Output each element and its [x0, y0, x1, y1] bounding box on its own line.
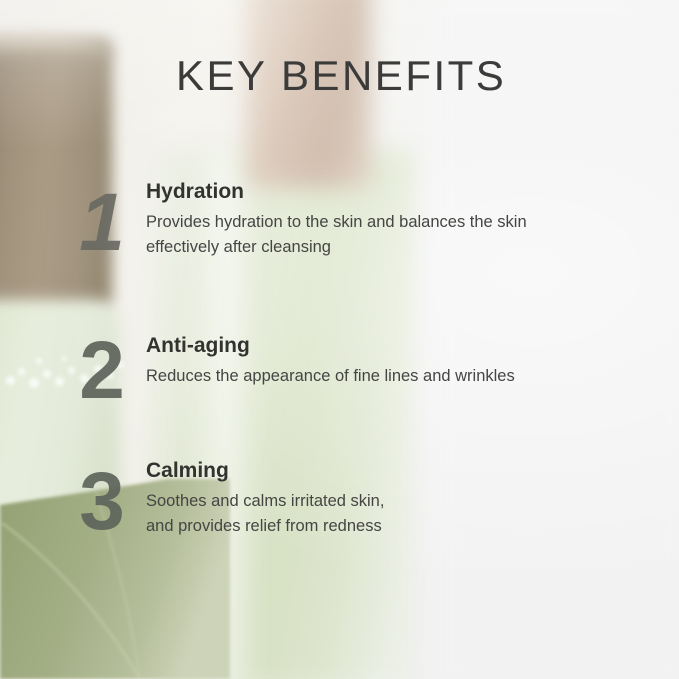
key-benefits-graphic: KEY BENEFITS 1 Hydration Provides hydrat… — [0, 0, 679, 679]
benefit-heading: Anti-aging — [146, 334, 250, 358]
page-title: KEY BENEFITS — [176, 52, 506, 100]
benefit-number: 1 — [62, 182, 142, 264]
content-layer: KEY BENEFITS 1 Hydration Provides hydrat… — [0, 0, 679, 679]
benefit-description: Reduces the appearance of fine lines and… — [146, 364, 515, 389]
benefit-heading: Calming — [146, 459, 229, 483]
benefit-description: Provides hydration to the skin and balan… — [146, 210, 527, 260]
benefit-description: Soothes and calms irritated skin, and pr… — [146, 489, 384, 539]
benefit-number: 3 — [62, 461, 142, 543]
benefit-heading: Hydration — [146, 180, 244, 204]
benefit-number: 2 — [62, 330, 142, 412]
